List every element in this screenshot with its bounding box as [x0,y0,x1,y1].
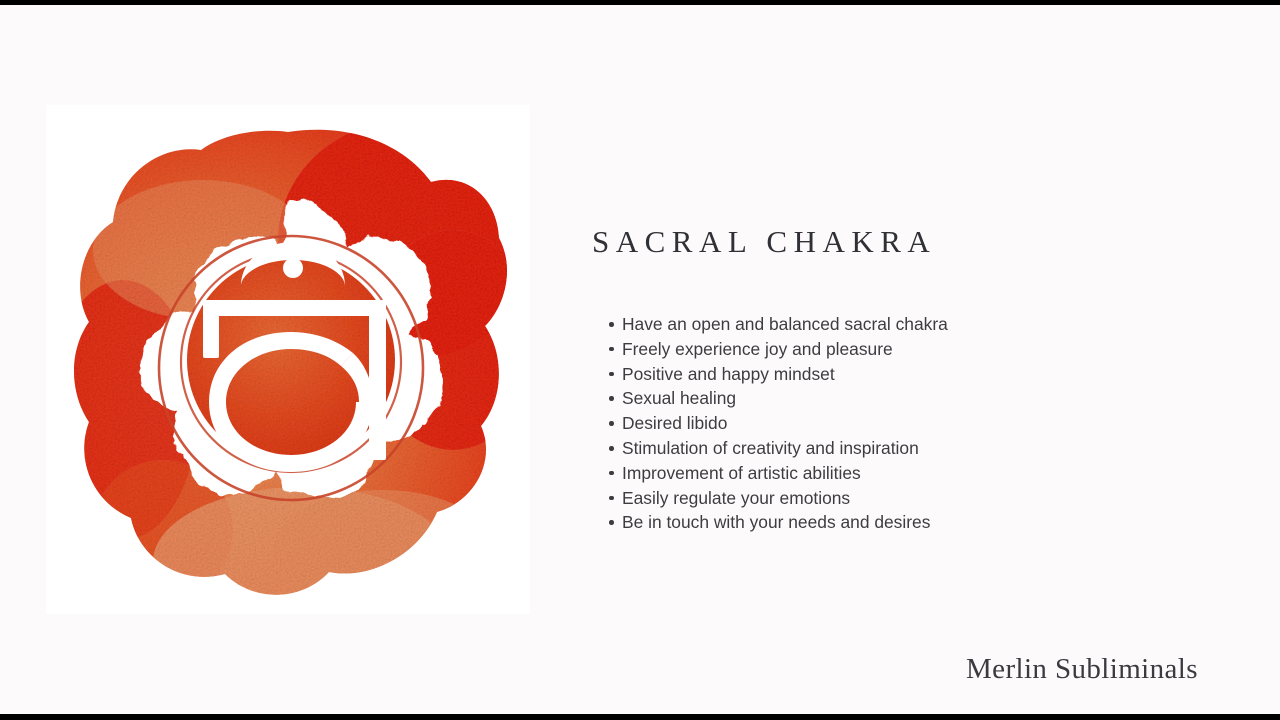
bullet-icon [609,322,614,327]
bullet-icon [609,347,614,352]
bullet-icon [609,446,614,451]
list-item-label: Stimulation of creativity and inspiratio… [622,438,919,458]
letterbox-bar-bottom [0,714,1280,720]
chakra-image-panel [46,105,530,614]
bullet-icon [609,520,614,525]
list-item: Desired libido [609,411,948,436]
bullet-icon [609,396,614,401]
list-item: Be in touch with your needs and desires [609,510,948,535]
list-item: Have an open and balanced sacral chakra [609,312,948,337]
brand-watermark: Merlin Subliminals [966,653,1198,686]
list-item: Freely experience joy and pleasure [609,337,948,362]
chakra-illustration [53,110,523,610]
bullet-icon [609,421,614,426]
list-item-label: Have an open and balanced sacral chakra [622,314,948,334]
benefits-list: Have an open and balanced sacral chakra … [609,312,948,535]
list-item: Stimulation of creativity and inspiratio… [609,436,948,461]
page-title: SACRAL CHAKRA [592,224,936,260]
video-slide: SACRAL CHAKRA Have an open and balanced … [0,0,1280,720]
bullet-icon [609,471,614,476]
sacral-chakra-symbol [53,110,523,610]
list-item-label: Positive and happy mindset [622,364,835,384]
slide-canvas: SACRAL CHAKRA Have an open and balanced … [0,5,1280,714]
list-item-label: Be in touch with your needs and desires [622,512,930,532]
list-item: Sexual healing [609,386,948,411]
list-item-label: Improvement of artistic abilities [622,463,861,483]
list-item-label: Freely experience joy and pleasure [622,339,893,359]
bullet-icon [609,496,614,501]
list-item-label: Sexual healing [622,388,736,408]
list-item: Positive and happy mindset [609,362,948,387]
list-item: Easily regulate your emotions [609,486,948,511]
bullet-icon [609,372,614,377]
list-item: Improvement of artistic abilities [609,461,948,486]
list-item-label: Desired libido [622,413,727,433]
list-item-label: Easily regulate your emotions [622,488,850,508]
